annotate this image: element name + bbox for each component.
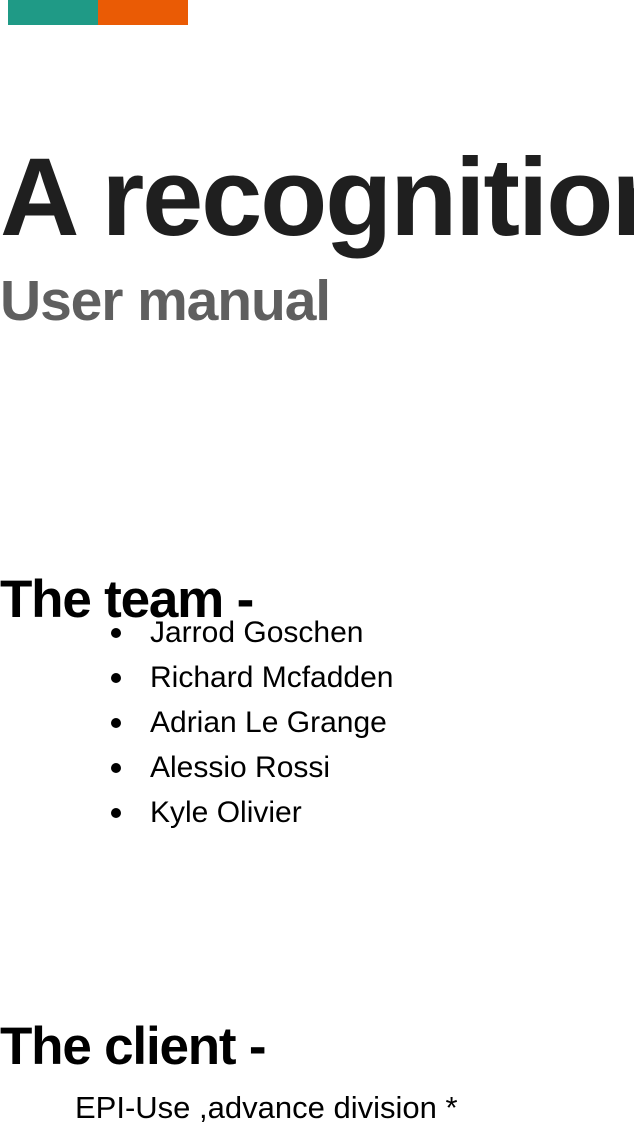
team-member-list: Jarrod Goschen Richard Mcfadden Adrian L… [0,610,620,835]
list-item: Alessio Rossi [0,745,620,790]
accent-bar-teal-segment [8,0,98,25]
section-heading-client: The client - [0,1019,620,1075]
team-member-name: Alessio Rossi [150,751,330,784]
page-subtitle: User manual [0,272,620,332]
bullet-dot-icon [111,808,121,818]
team-member-name: Richard Mcfadden [150,661,393,694]
client-name: EPI-Use ,advance division * [75,1089,458,1126]
list-item: Jarrod Goschen [0,610,620,655]
bullet-dot-icon [111,763,121,773]
list-item: Kyle Olivier [0,790,620,835]
team-member-name: Adrian Le Grange [150,706,387,739]
bullet-dot-icon [111,718,121,728]
accent-bar-orange-segment [98,0,188,25]
page-title: A recognition [0,142,634,254]
team-member-name: Jarrod Goschen [150,616,363,649]
bullet-dot-icon [111,673,121,683]
title-slide: A recognition User manual The team - Jar… [0,0,634,1099]
accent-bar [8,0,188,25]
list-item: Richard Mcfadden [0,655,620,700]
list-item: Adrian Le Grange [0,700,620,745]
bullet-dot-icon [111,628,121,638]
team-member-name: Kyle Olivier [150,796,302,829]
